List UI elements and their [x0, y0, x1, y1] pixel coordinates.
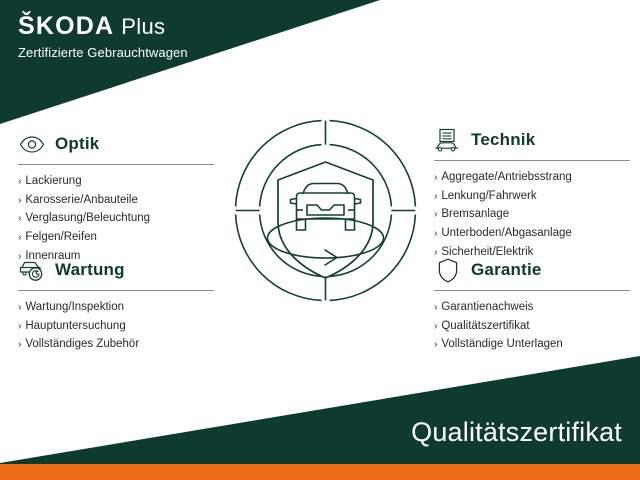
brand-suffix: Plus [121, 14, 165, 39]
section-technik: Technik ›Aggregate/Antriebsstrang ›Lenku… [434, 126, 630, 261]
chevron-icon: › [434, 170, 437, 186]
section-list: ›Garantienachweis ›Qualitätszertifikat ›… [434, 298, 630, 354]
car-service-icon [18, 257, 46, 283]
brand-subtitle: Zertifizierte Gebrauchtwagen [18, 45, 318, 60]
list-item-label: Verglasung/Beleuchtung [25, 209, 150, 228]
list-item: ›Vollständige Unterlagen [434, 335, 630, 354]
section-title: Wartung [55, 260, 125, 280]
certified-vehicle-emblem [233, 118, 418, 303]
section-divider [434, 160, 630, 161]
brand-logo: ŠKODAPlus Zertifizierte Gebrauchtwagen [18, 14, 318, 60]
chevron-icon: › [434, 189, 437, 205]
section-header: Garantie [434, 256, 630, 284]
car-document-icon [434, 127, 462, 153]
section-optik: Optik ›Lackierung ›Karosserie/Anbauteile… [18, 130, 214, 265]
brand-wordmark: ŠKODA [18, 12, 114, 40]
section-divider [18, 164, 214, 165]
list-item: ›Verglasung/Beleuchtung [18, 209, 214, 228]
section-list: ›Lackierung ›Karosserie/Anbauteile ›Verg… [18, 172, 214, 265]
list-item-label: Karosserie/Anbauteile [25, 191, 138, 210]
list-item-label: Lenkung/Fahrwerk [441, 187, 536, 206]
section-wartung: Wartung ›Wartung/Inspektion ›Hauptunters… [18, 256, 214, 354]
chevron-icon: › [434, 337, 437, 353]
list-item: ›Karosserie/Anbauteile [18, 191, 214, 210]
list-item: ›Hauptuntersuchung [18, 317, 214, 336]
chevron-icon: › [18, 230, 21, 246]
accent-bar [0, 464, 640, 480]
section-divider [18, 290, 214, 291]
section-header: Technik [434, 126, 630, 154]
list-item-label: Vollständiges Zubehör [25, 335, 139, 354]
list-item: ›Bremsanlage [434, 205, 630, 224]
list-item: ›Unterboden/Abgasanlage [434, 224, 630, 243]
list-item-label: Vollständige Unterlagen [441, 335, 562, 354]
list-item-label: Felgen/Reifen [25, 228, 97, 247]
chevron-icon: › [18, 300, 21, 316]
list-item: ›Aggregate/Antriebsstrang [434, 168, 630, 187]
list-item: ›Garantienachweis [434, 298, 630, 317]
chevron-icon: › [434, 319, 437, 335]
list-item-label: Lackierung [25, 172, 81, 191]
section-garantie: Garantie ›Garantienachweis ›Qualitätszer… [434, 256, 630, 354]
section-header: Optik [18, 130, 214, 158]
chevron-icon: › [18, 211, 21, 227]
certificate-page: ŠKODAPlus Zertifizierte Gebrauchtwagen O… [0, 0, 640, 480]
shield-icon [434, 257, 462, 283]
list-item: ›Qualitätszertifikat [434, 317, 630, 336]
section-header: Wartung [18, 256, 214, 284]
list-item-label: Bremsanlage [441, 205, 509, 224]
list-item-label: Garantienachweis [441, 298, 533, 317]
list-item: ›Wartung/Inspektion [18, 298, 214, 317]
list-item: ›Lackierung [18, 172, 214, 191]
section-title: Optik [55, 134, 99, 154]
list-item-label: Hauptuntersuchung [25, 317, 125, 336]
list-item: ›Vollständiges Zubehör [18, 335, 214, 354]
chevron-icon: › [434, 226, 437, 242]
chevron-icon: › [434, 207, 437, 223]
eye-icon [18, 131, 46, 157]
list-item-label: Qualitätszertifikat [441, 317, 529, 336]
section-divider [434, 290, 630, 291]
section-title: Technik [471, 130, 535, 150]
chevron-icon: › [18, 193, 21, 209]
list-item-label: Aggregate/Antriebsstrang [441, 168, 571, 187]
footer-title: Qualitätszertifikat [411, 417, 622, 448]
chevron-icon: › [18, 174, 21, 190]
list-item-label: Wartung/Inspektion [25, 298, 124, 317]
chevron-icon: › [18, 337, 21, 353]
chevron-icon: › [18, 319, 21, 335]
section-list: ›Wartung/Inspektion ›Hauptuntersuchung ›… [18, 298, 214, 354]
section-title: Garantie [471, 260, 542, 280]
list-item: ›Lenkung/Fahrwerk [434, 187, 630, 206]
brand-line: ŠKODAPlus [18, 14, 318, 39]
footer-green-wedge [0, 356, 640, 466]
list-item-label: Unterboden/Abgasanlage [441, 224, 571, 243]
chevron-icon: › [434, 300, 437, 316]
section-list: ›Aggregate/Antriebsstrang ›Lenkung/Fahrw… [434, 168, 630, 261]
list-item: ›Felgen/Reifen [18, 228, 214, 247]
